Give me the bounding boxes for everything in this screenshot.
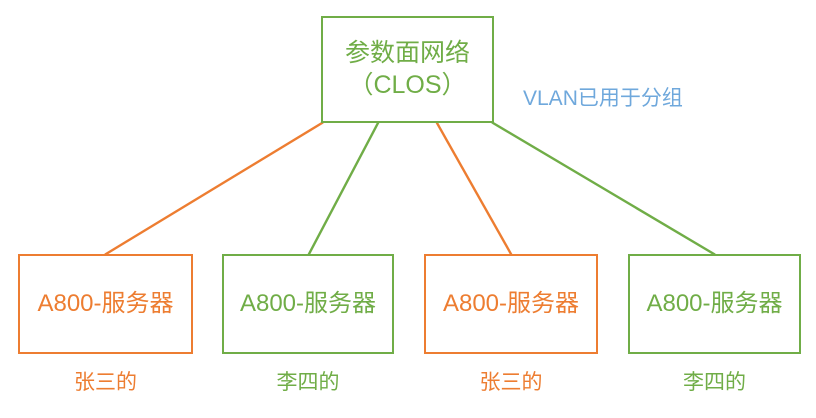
owner-caption-2: 李四的	[222, 368, 394, 398]
node-a800-server-1-label: A800-服务器	[37, 289, 173, 320]
node-a800-server-4[interactable]: A800-服务器	[628, 254, 801, 354]
node-a800-server-3-label: A800-服务器	[443, 289, 579, 320]
node-a800-server-3[interactable]: A800-服务器	[424, 254, 598, 354]
owner-caption-4: 李四的	[628, 368, 801, 398]
connector-top-to-leaf-1	[106, 123, 322, 254]
connector-top-to-leaf-3	[437, 123, 511, 254]
node-title-line-1: 参数面网络	[345, 37, 470, 69]
node-a800-server-4-label: A800-服务器	[646, 289, 782, 320]
connector-top-to-leaf-4	[493, 123, 714, 254]
node-a800-server-2-label: A800-服务器	[240, 289, 376, 320]
network-topology-diagram: 参数面网络 （CLOS） VLAN已用于分组 A800-服务器 A800-服务器…	[0, 0, 816, 418]
node-title-line-2: （CLOS）	[345, 69, 470, 101]
node-a800-server-1[interactable]: A800-服务器	[18, 254, 193, 354]
node-a800-server-2[interactable]: A800-服务器	[222, 254, 394, 354]
vlan-annotation-label: VLAN已用于分组	[523, 82, 683, 112]
node-parameter-plane-network-text: 参数面网络 （CLOS）	[345, 37, 470, 103]
connector-top-to-leaf-2	[309, 123, 378, 254]
node-parameter-plane-network[interactable]: 参数面网络 （CLOS）	[321, 16, 494, 123]
owner-caption-1: 张三的	[18, 368, 193, 398]
owner-caption-3: 张三的	[424, 368, 598, 398]
